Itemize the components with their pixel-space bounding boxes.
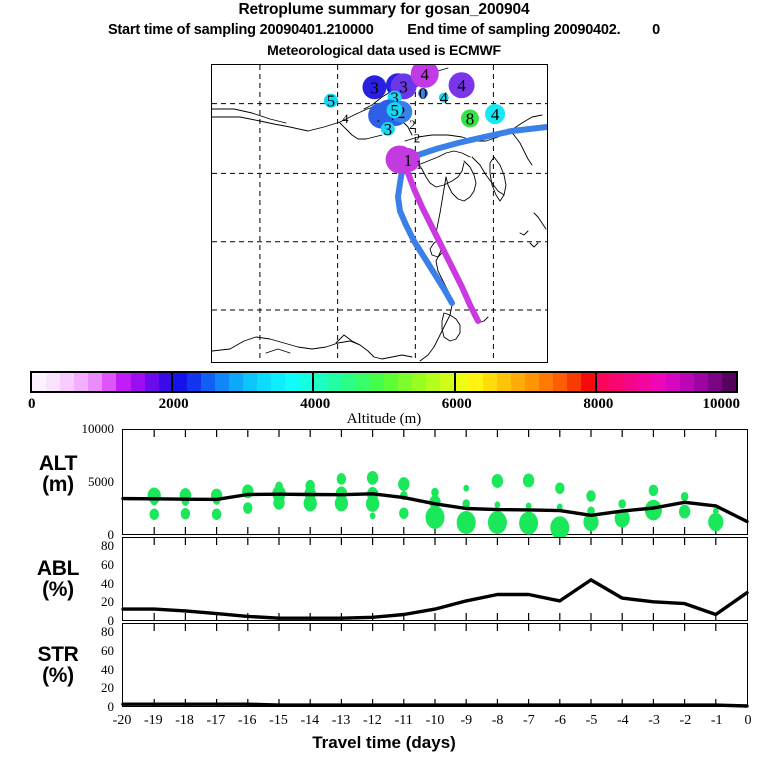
colorbar-segment	[187, 373, 201, 391]
colorbar-segment	[257, 373, 271, 391]
x-tick-label: -10	[418, 713, 452, 729]
alt-scatter-blob	[304, 495, 317, 511]
colorbar-segment	[328, 373, 342, 391]
map-marker-label: 4	[491, 105, 500, 124]
x-tick-label: -1	[700, 713, 734, 729]
alt-scatter-blob	[212, 508, 222, 520]
y-tick-label: 60	[52, 643, 114, 659]
colorbar-segment	[595, 373, 609, 391]
colorbar-segment	[666, 373, 680, 391]
colorbar-segment	[314, 373, 328, 391]
alt-scatter-blob	[149, 508, 159, 520]
x-tick-label: -11	[387, 713, 421, 729]
colorbar-segment	[384, 373, 398, 391]
y-tick-label: 20	[52, 680, 114, 696]
alt-scatter-blob	[273, 496, 284, 510]
x-tick-label: -8	[481, 713, 515, 729]
plot-data-line	[123, 580, 747, 618]
colorbar-segment	[370, 373, 384, 391]
x-tick-label: -13	[324, 713, 358, 729]
map-marker-label: 3	[370, 78, 379, 97]
timeseries-block: ALT (m) ABL (%) STR (%) 1000050000806040…	[0, 425, 768, 768]
map-marker-label: 5	[327, 92, 336, 111]
alt-scatter-blob	[550, 516, 569, 539]
str-plot-canvas	[123, 624, 747, 706]
alt-scatter-blob	[519, 512, 538, 535]
alt-scatter-blob	[488, 511, 507, 534]
x-tick-label: -3	[637, 713, 671, 729]
map-marker-label: 5	[390, 101, 399, 120]
colorbar-segment	[511, 373, 525, 391]
colorbar-segment	[708, 373, 722, 391]
colorbar-segment	[145, 373, 159, 391]
colorbar-segment	[60, 373, 74, 391]
y-tick-label: 80	[52, 538, 114, 554]
x-tick-label: -5	[575, 713, 609, 729]
alt-scatter-blob	[555, 482, 565, 494]
colorbar-segment	[623, 373, 637, 391]
abl-plot[interactable]	[122, 537, 748, 621]
colorbar-segment	[483, 373, 497, 391]
altitude-colorbar	[30, 371, 738, 393]
colorbar-segment	[88, 373, 102, 391]
colorbar-segment	[102, 373, 116, 391]
alt-scatter-blob	[426, 506, 445, 529]
colorbar-segment	[680, 373, 694, 391]
alt-scatter-blob	[398, 477, 409, 491]
alt-plot-canvas	[123, 430, 747, 534]
colorbar-segment	[271, 373, 285, 391]
x-tick-label: 0	[731, 713, 765, 729]
retroplume-map[interactable]: 33344530422225432284111	[211, 64, 548, 363]
colorbar-segment	[74, 373, 88, 391]
alt-scatter-blob	[243, 502, 253, 514]
y-tick-label: 20	[52, 594, 114, 610]
trajectory-blue	[398, 127, 547, 303]
x-tick-label: -18	[168, 713, 202, 729]
start-time-label: Start time of sampling 20090401.210000	[108, 22, 374, 38]
colorbar-segment	[243, 373, 257, 391]
map-marker-label: 4	[342, 111, 349, 126]
x-tick-label: -19	[136, 713, 170, 729]
colorbar-segment	[581, 373, 595, 391]
map-marker-label: 4	[420, 65, 429, 84]
alt-scatter-blob	[181, 508, 191, 519]
met-data-label: Meteorological data used is ECMWF	[0, 42, 768, 58]
end-time-label: End time of sampling 20090402.	[407, 22, 620, 38]
x-tick-label: -16	[230, 713, 264, 729]
alt-scatter-blob	[586, 490, 596, 502]
alt-scatter-blob	[492, 474, 503, 488]
alt-scatter-blob	[457, 511, 476, 534]
alt-scatter-blob	[495, 501, 501, 508]
colorbar-segment	[215, 373, 229, 391]
map-marker-label: 3	[399, 77, 408, 96]
alt-label-line1: ALT	[8, 453, 108, 474]
map-marker-label: 1	[404, 151, 413, 170]
x-tick-labels: -20-19-18-17-16-15-14-13-12-11-10-9-8-7-…	[0, 713, 768, 731]
alt-scatter-blob	[523, 474, 534, 488]
colorbar-segment	[497, 373, 511, 391]
map-marker-label: 8	[466, 109, 475, 128]
x-tick-label: -12	[355, 713, 389, 729]
x-tick-label: -2	[668, 713, 702, 729]
colorbar-segment	[159, 373, 173, 391]
colorbar-segment	[229, 373, 243, 391]
alt-scatter-blob	[366, 496, 379, 512]
y-tick-label: 40	[52, 576, 114, 592]
y-tick-label: 80	[52, 624, 114, 640]
colorbar-segment	[468, 373, 482, 391]
colorbar-segment	[454, 373, 468, 391]
x-tick-label: -9	[449, 713, 483, 729]
alt-scatter-blob	[679, 505, 690, 519]
alt-scatter-blob	[618, 499, 626, 508]
alt-scatter-blob	[399, 507, 409, 519]
colorbar-segment	[722, 373, 736, 391]
colorbar-segment	[299, 373, 313, 391]
x-tick-label: -14	[293, 713, 327, 729]
colorbar-segment	[342, 373, 356, 391]
map-marker-label: 4	[440, 89, 449, 108]
map-marker-label: 1	[416, 157, 423, 172]
map-canvas: 33344530422225432284111	[212, 65, 547, 362]
page-title: Retroplume summary for gosan_200904	[0, 1, 768, 19]
str-plot[interactable]	[122, 623, 748, 707]
map-marker-label: 0	[419, 84, 428, 103]
x-tick-label: -20	[105, 713, 139, 729]
colorbar-segment	[637, 373, 651, 391]
alt-plot[interactable]	[122, 429, 748, 535]
colorbar-segment	[426, 373, 440, 391]
x-tick-label: -17	[199, 713, 233, 729]
alt-scatter-blob	[649, 485, 659, 497]
colorbar-segment	[173, 373, 187, 391]
plot-data-line	[123, 704, 747, 706]
colorbar-segment	[131, 373, 145, 391]
y-tick-label: 10000	[52, 421, 114, 437]
colorbar-segment	[32, 373, 46, 391]
x-tick-label: -15	[262, 713, 296, 729]
alt-scatter-blob	[370, 512, 376, 519]
y-tick-label: 60	[52, 557, 114, 573]
colorbar-segment	[553, 373, 567, 391]
alt-scatter-blob	[681, 492, 689, 501]
colorbar-segment	[412, 373, 426, 391]
alt-scatter-blob	[335, 495, 348, 511]
alt-scatter-blob	[337, 473, 347, 485]
map-marker-label: 4	[457, 76, 466, 95]
colorbar-segment	[567, 373, 581, 391]
abl-plot-canvas	[123, 538, 747, 620]
colorbar-segment	[285, 373, 299, 391]
y-tick-label: 40	[52, 662, 114, 678]
colorbar-segment	[46, 373, 60, 391]
x-tick-label: -7	[512, 713, 546, 729]
sampling-time-line: Start time of sampling 20090401.210000 E…	[0, 22, 768, 38]
map-marker-label: 3	[384, 120, 393, 139]
map-marker-label: 2	[414, 130, 421, 145]
map-marker-group: 33344530422225432284111	[324, 65, 505, 173]
colorbar-segment	[651, 373, 665, 391]
colorbar-segment	[539, 373, 553, 391]
x-axis-title: Travel time (days)	[0, 733, 768, 753]
colorbar-segment	[609, 373, 623, 391]
colorbar-segment	[201, 373, 215, 391]
colorbar-segment	[525, 373, 539, 391]
colorbar-gradient	[30, 371, 738, 393]
colorbar-segment	[440, 373, 454, 391]
end-time-value: 0	[652, 22, 660, 38]
alt-scatter-blob	[367, 471, 378, 485]
colorbar-segment	[398, 373, 412, 391]
x-tick-label: -4	[606, 713, 640, 729]
colorbar-segment	[694, 373, 708, 391]
alt-scatter-blob	[463, 485, 469, 492]
y-tick-label: 5000	[52, 474, 114, 490]
colorbar-segment	[116, 373, 130, 391]
colorbar-segment	[356, 373, 370, 391]
x-tick-label: -6	[543, 713, 577, 729]
alt-scatter-blob	[708, 513, 723, 531]
